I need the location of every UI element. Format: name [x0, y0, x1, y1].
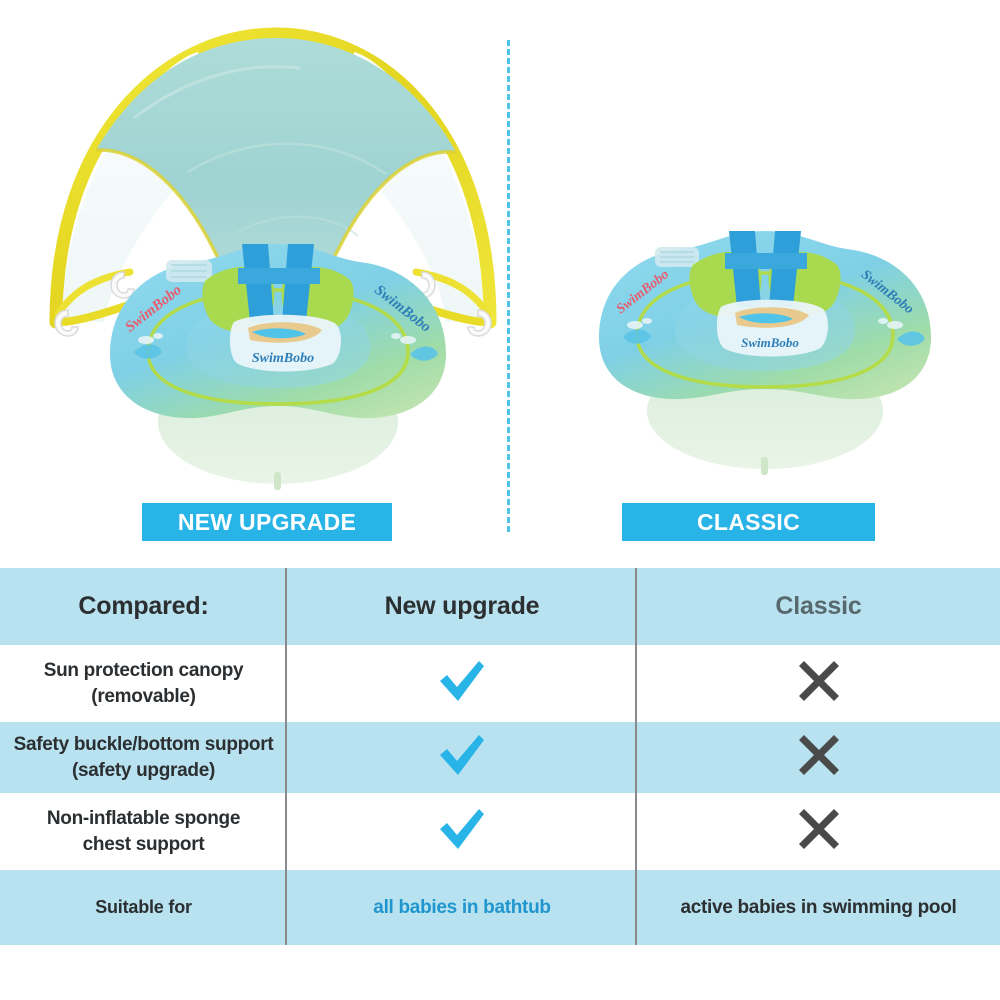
feature-label-line1: Safety buckle/bottom support — [14, 734, 274, 755]
cross-icon — [797, 659, 841, 703]
product-image-new-upgrade: SwimBobo SwimBobo SwimBobo — [38, 22, 508, 492]
cross-icon — [797, 733, 841, 777]
svg-text:SwimBobo: SwimBobo — [252, 351, 314, 366]
check-icon — [437, 733, 487, 777]
brand-logo-right: SwimBobo — [717, 300, 828, 357]
value-label-classic: active babies in swimming pool — [637, 897, 1000, 919]
header-cell-classic: Classic — [637, 568, 1000, 645]
value-cell-new-upgrade — [287, 645, 637, 722]
baby-float-with-canopy-illustration: SwimBobo SwimBobo SwimBobo — [38, 22, 508, 492]
check-icon — [437, 659, 487, 703]
cross-icon — [797, 807, 841, 851]
table-row: Suitable for all babies in bathtub activ… — [0, 870, 1000, 945]
value-cell-classic: active babies in swimming pool — [637, 870, 1000, 945]
value-cell-classic — [637, 645, 1000, 722]
check-icon — [437, 807, 487, 851]
baby-float-classic-illustration: SwimBobo SwimBobo SwimBobo — [565, 195, 965, 485]
table-row: Non-inflatable sponge chest support — [0, 793, 1000, 870]
feature-cell: Sun protection canopy (removable) — [0, 645, 287, 722]
value-cell-new-upgrade: all babies in bathtub — [287, 870, 637, 945]
feature-label-suitable-for: Suitable for — [0, 897, 287, 918]
feature-cell: Non-inflatable sponge chest support — [0, 793, 287, 870]
value-cell-classic — [637, 793, 1000, 870]
table-row: Safety buckle/bottom support (safety upg… — [0, 722, 1000, 793]
brand-logo-left: SwimBobo — [230, 315, 341, 372]
feature-label-line2: chest support — [83, 834, 205, 855]
value-cell-new-upgrade — [287, 722, 637, 793]
feature-cell: Suitable for — [0, 870, 287, 945]
header-label-new-upgrade: New upgrade — [287, 592, 637, 621]
feature-label-line1: Non-inflatable sponge — [47, 808, 240, 829]
feature-label-line2: (safety upgrade) — [72, 760, 215, 781]
product-comparison-hero: SwimBobo SwimBobo SwimBobo — [0, 0, 1000, 555]
comparison-table: Compared: New upgrade Classic Sun protec… — [0, 568, 1000, 945]
value-cell-classic — [637, 722, 1000, 793]
table-header-row: Compared: New upgrade Classic — [0, 568, 1000, 645]
vertical-dashed-divider — [507, 40, 510, 532]
header-label-classic: Classic — [637, 592, 1000, 621]
header-label-compared: Compared: — [0, 592, 287, 621]
product-image-classic: SwimBobo SwimBobo SwimBobo — [565, 195, 965, 485]
feature-label-line2: (removable) — [91, 686, 195, 707]
value-label-new-upgrade: all babies in bathtub — [287, 897, 637, 919]
badge-new-upgrade: NEW UPGRADE — [142, 503, 392, 541]
value-cell-new-upgrade — [287, 793, 637, 870]
feature-label-line1: Sun protection canopy — [44, 660, 244, 681]
badge-classic: CLASSIC — [622, 503, 875, 541]
table-row: Sun protection canopy (removable) — [0, 645, 1000, 722]
feature-cell: Safety buckle/bottom support (safety upg… — [0, 722, 287, 793]
svg-text:SwimBobo: SwimBobo — [741, 335, 799, 350]
header-cell-compared: Compared: — [0, 568, 287, 645]
header-cell-new-upgrade: New upgrade — [287, 568, 637, 645]
